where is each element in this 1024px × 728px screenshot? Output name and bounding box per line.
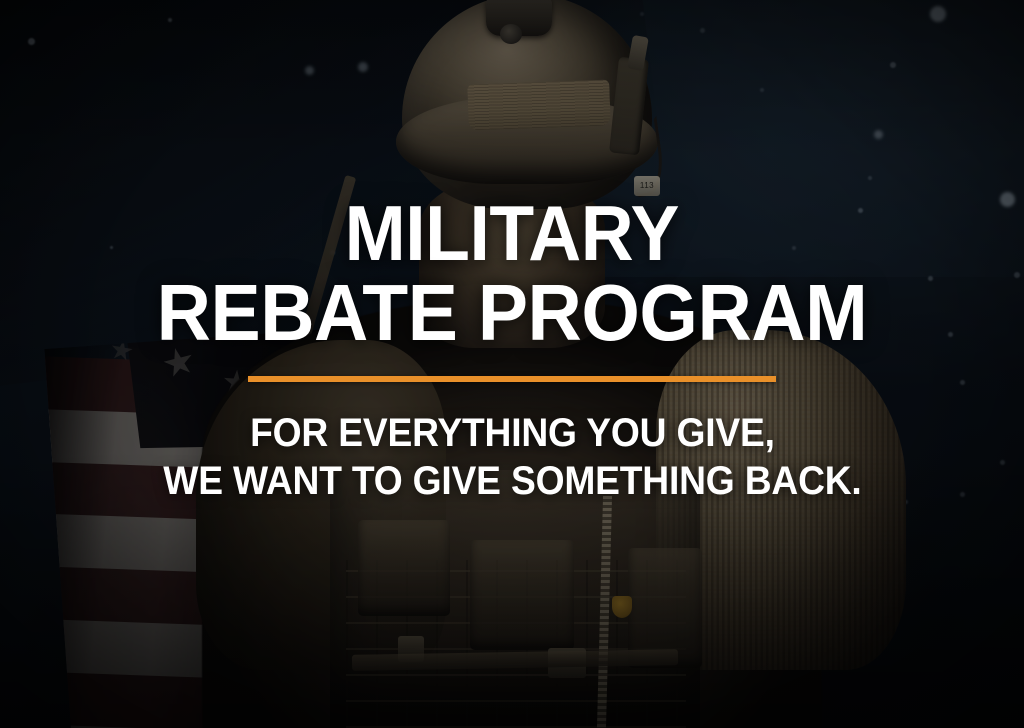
subheadline: FOR EVERYTHING YOU GIVE, WE WANT TO GIVE… [163, 409, 861, 507]
military-rebate-banner: 113 MILITARY REBATE PROGRAM FOR EVERYTHI… [0, 0, 1024, 728]
banner-content: MILITARY REBATE PROGRAM FOR EVERYTHING Y… [0, 0, 1024, 728]
orange-divider [248, 376, 776, 382]
subheadline-line-2: WE WANT TO GIVE SOMETHING BACK. [163, 457, 861, 506]
headline-line-2: REBATE PROGRAM [157, 275, 868, 352]
headline-line-1: MILITARY [345, 196, 679, 271]
subheadline-line-1: FOR EVERYTHING YOU GIVE, [250, 411, 775, 455]
